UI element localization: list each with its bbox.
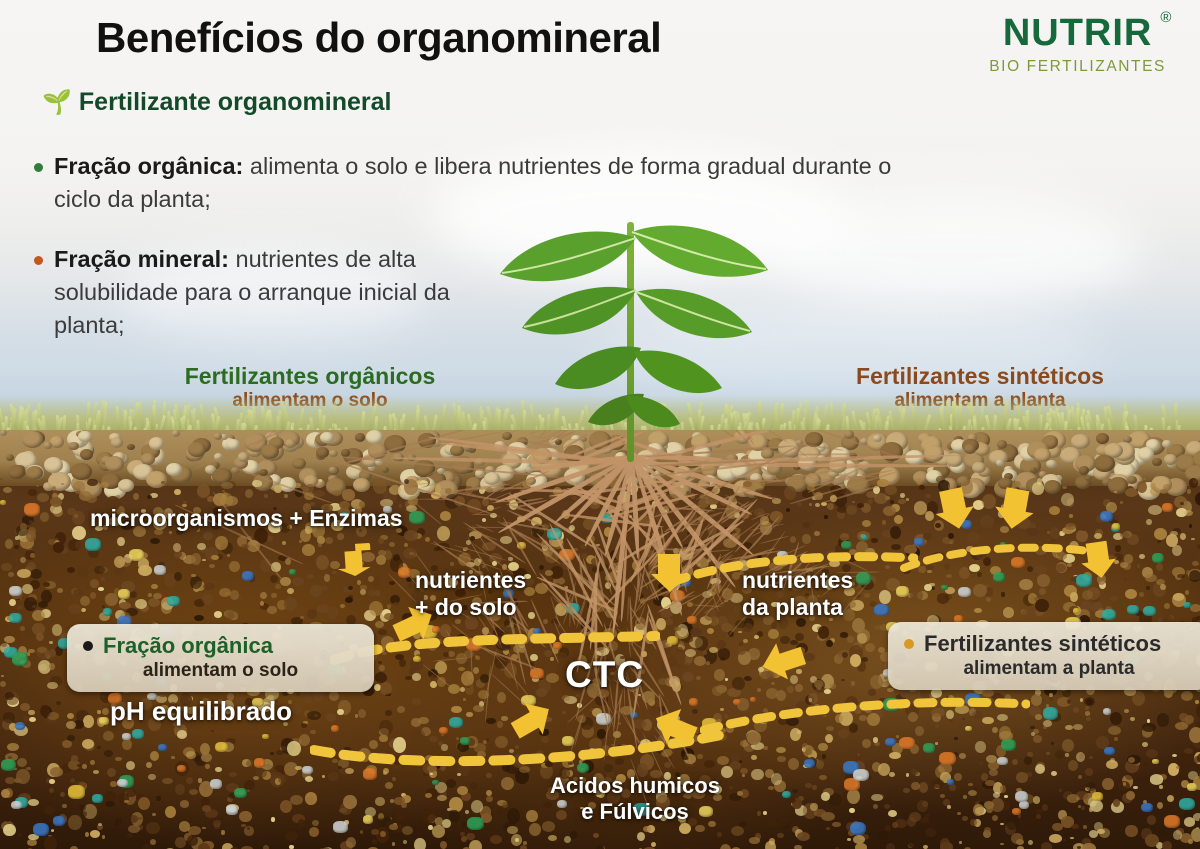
soil-grain — [1, 563, 11, 572]
soil-grain — [299, 734, 310, 746]
soil-grain — [962, 816, 967, 821]
soil-grain — [67, 713, 74, 719]
plant-leaf — [520, 284, 638, 350]
soil-grain — [461, 836, 466, 842]
soil-grain — [1081, 806, 1085, 810]
soil-grain — [871, 794, 883, 801]
mineral-granule — [15, 722, 25, 730]
soil-grain — [979, 761, 983, 766]
soil-grain — [812, 785, 817, 790]
soil-grain — [1124, 577, 1128, 581]
soil-grain — [162, 778, 173, 785]
soil-grain — [37, 493, 49, 503]
soil-grain — [28, 710, 34, 716]
label-nutrients-soil-line1: nutrientes — [415, 567, 565, 594]
soil-grain — [1046, 752, 1051, 755]
soil-grain — [470, 782, 478, 789]
soil-grain — [749, 837, 759, 843]
mineral-granule — [1187, 783, 1197, 791]
list-item: Fração mineral: nutrientes de alta solub… — [34, 243, 934, 343]
soil-grain — [209, 564, 215, 569]
soil-grain — [763, 746, 767, 750]
soil-grain — [889, 752, 901, 759]
soil-pebble — [1044, 480, 1061, 494]
soil-grain — [1181, 691, 1193, 701]
soil-grain — [865, 643, 875, 652]
mineral-granule — [1104, 747, 1114, 755]
soil-pebble — [1071, 434, 1089, 449]
soil-grain — [117, 537, 124, 546]
soil-grain — [110, 781, 117, 787]
soil-grain — [815, 503, 820, 507]
soil-grain — [847, 789, 860, 804]
mineral-granule — [9, 613, 21, 623]
soil-grain — [15, 536, 19, 540]
soil-grain — [256, 768, 267, 778]
soil-grain — [1141, 828, 1152, 839]
soil-grain — [319, 586, 327, 591]
soil-grain — [892, 822, 898, 829]
soil-grain — [919, 782, 928, 793]
soil-grain — [1036, 814, 1041, 818]
soil-grain — [71, 755, 78, 762]
soil-grain — [298, 819, 305, 827]
soil-grain — [637, 832, 645, 841]
soil-grain — [830, 683, 837, 689]
soil-pebble — [1034, 448, 1051, 462]
soil-grain — [44, 806, 55, 814]
mineral-granule — [1015, 791, 1029, 802]
soil-grain — [307, 711, 321, 720]
mineral-granule — [1092, 792, 1103, 801]
soil-grain — [20, 523, 27, 531]
soil-grain — [403, 840, 407, 844]
soil-grain — [709, 647, 718, 654]
soil-grain — [768, 629, 778, 639]
soil-grain — [886, 843, 895, 849]
soil-grain — [229, 561, 240, 573]
soil-grain — [17, 758, 27, 767]
soil-grain — [8, 572, 14, 578]
label-nutrients-soil: nutrientes + do solo — [415, 567, 565, 621]
soil-grain — [244, 780, 255, 790]
soil-grain — [1085, 706, 1089, 710]
soil-grain — [102, 835, 105, 839]
soil-grain — [501, 716, 508, 720]
soil-grain — [1041, 842, 1052, 849]
callout-organic-line1: Fração orgânica — [103, 633, 273, 659]
soil-grain — [1022, 608, 1035, 620]
soil-grain — [1133, 786, 1138, 789]
soil-grain — [924, 584, 932, 591]
flow-arrow-icon — [934, 487, 976, 531]
soil-grain — [1068, 760, 1079, 771]
soil-grain — [917, 800, 928, 812]
soil-grain — [126, 761, 135, 770]
soil-grain — [437, 526, 450, 541]
soil-grain — [1196, 703, 1200, 719]
mineral-granule — [1179, 798, 1195, 811]
soil-grain — [147, 495, 152, 499]
soil-grain — [685, 649, 696, 657]
soil-grain — [1085, 768, 1093, 776]
soil-grain — [142, 844, 151, 849]
soil-grain — [1073, 707, 1079, 713]
soil-grain — [68, 604, 82, 614]
soil-grain — [974, 608, 982, 613]
soil-grain — [771, 682, 774, 685]
soil-grain — [1062, 739, 1074, 752]
soil-grain — [225, 610, 234, 619]
soil-grain — [1180, 533, 1186, 540]
soil-grain — [749, 669, 757, 679]
nutrient-flow-trail — [900, 540, 1100, 576]
soil-pebble — [1162, 440, 1171, 448]
mineral-granule — [85, 538, 102, 551]
soil-grain — [418, 717, 428, 724]
soil-grain — [489, 698, 496, 705]
soil-grain — [229, 772, 237, 777]
soil-grain — [1089, 830, 1098, 838]
soil-grain — [882, 520, 886, 525]
soil-grain — [280, 800, 292, 813]
soil-grain — [1078, 775, 1082, 779]
soil-grain — [214, 611, 223, 618]
callout-synthetic-line1-row: Fertilizantes sintéticos — [904, 631, 1194, 657]
mineral-granule — [363, 815, 374, 824]
soil-grain — [1146, 749, 1158, 758]
soil-grain — [342, 489, 355, 500]
soil-grain — [295, 766, 302, 771]
soil-grain — [954, 773, 963, 781]
soil-grain — [987, 739, 993, 744]
soil-grain — [1012, 759, 1018, 765]
soil-grain — [390, 799, 394, 804]
soil-grain — [156, 796, 160, 801]
mineral-granule — [689, 698, 699, 706]
soil-grain — [788, 798, 796, 803]
soil-grain — [548, 835, 557, 841]
soil-grain — [1144, 583, 1148, 585]
soil-grain — [90, 830, 101, 838]
mineral-granule — [118, 589, 130, 599]
soil-grain — [1, 675, 4, 677]
soil-grain — [1065, 725, 1073, 730]
soil-grain — [1150, 774, 1164, 784]
callout-synthetic-fertilizers: Fertilizantes sintéticos alimentam a pla… — [888, 622, 1200, 690]
soil-grain — [486, 790, 492, 796]
soil-grain — [920, 817, 930, 823]
soil-grain — [299, 540, 302, 542]
callout-organic-line2: alimentam o solo — [83, 660, 358, 682]
soil-pebble — [214, 433, 223, 440]
soil-grain — [1125, 488, 1138, 497]
soil-grain — [103, 731, 114, 741]
soil-grain — [862, 520, 871, 527]
mineral-granule — [12, 652, 28, 665]
soil-grain — [1049, 834, 1062, 842]
soil-grain — [1114, 737, 1118, 741]
soil-grain — [360, 589, 366, 595]
soil-grain — [1188, 839, 1193, 843]
soil-grain — [340, 604, 345, 608]
soil-grain — [1167, 795, 1174, 802]
soil-grain — [720, 844, 731, 849]
soil-grain — [947, 805, 951, 809]
soil-grain — [923, 845, 928, 849]
callout-organic-line1-row: Fração orgânica — [83, 633, 358, 659]
soil-grain — [658, 678, 668, 685]
soil-grain — [22, 584, 33, 595]
soil-grain — [191, 574, 195, 577]
soil-grain — [294, 483, 300, 489]
mineral-granule — [177, 765, 186, 772]
label-microorganisms: microorganismos + Enzimas — [90, 505, 403, 532]
soil-grain — [392, 777, 395, 781]
soil-grain — [414, 838, 426, 849]
soil-grain — [20, 557, 26, 563]
soil-grain — [306, 796, 314, 805]
list-item-text: Fração orgânica: alimenta o solo e liber… — [54, 150, 924, 217]
soil-grain — [274, 485, 281, 492]
soil-grain — [1146, 586, 1150, 590]
soil-grain — [146, 822, 160, 835]
soil-grain — [743, 639, 748, 643]
callout-marker-icon — [904, 639, 914, 649]
soil-grain — [270, 575, 278, 584]
soil-grain — [931, 779, 944, 788]
soil-grain — [871, 538, 878, 543]
bullet-marker-icon — [34, 163, 43, 172]
soil-grain — [465, 810, 469, 814]
soil-grain — [1157, 802, 1163, 809]
soil-grain — [90, 760, 94, 765]
soil-grain — [814, 809, 826, 817]
soil-grain — [75, 541, 83, 549]
soil-grain — [201, 753, 212, 762]
soil-grain — [1159, 785, 1163, 789]
soil-grain — [959, 841, 962, 845]
soil-grain — [562, 711, 566, 714]
bullet-marker-icon — [34, 256, 43, 265]
infographic-poster: Benefícios do organomineral NUTRIR® BIO … — [0, 0, 1200, 849]
mineral-granule — [997, 757, 1008, 765]
soil-grain — [1065, 753, 1069, 756]
subtitle-row: 🌱 Fertilizante organomineral — [42, 88, 391, 117]
soil-grain — [1108, 726, 1121, 735]
soil-grain — [50, 767, 63, 777]
soil-grain — [307, 609, 316, 619]
mineral-granule — [1152, 759, 1159, 764]
soil-grain — [380, 682, 392, 695]
soil-grain — [29, 717, 36, 722]
soil-grain — [1125, 589, 1137, 599]
mineral-granule — [1164, 815, 1180, 828]
soil-grain — [368, 576, 374, 582]
soil-grain — [682, 672, 694, 682]
soil-grain — [165, 806, 176, 819]
nutrient-flow-trail — [700, 690, 1030, 736]
soil-grain — [1118, 494, 1123, 497]
soil-grain — [40, 512, 49, 522]
mineral-granule — [1141, 803, 1153, 812]
soil-grain — [360, 830, 363, 834]
soil-grain — [677, 664, 681, 669]
soil-grain — [177, 730, 188, 739]
soil-grain — [66, 721, 76, 729]
soil-grain — [486, 773, 491, 779]
soil-grain — [1001, 592, 1005, 596]
soil-grain — [213, 820, 221, 826]
soil-grain — [389, 542, 395, 547]
soil-grain — [1094, 533, 1102, 539]
soil-grain — [862, 739, 871, 749]
soil-grain — [318, 543, 322, 547]
soil-grain — [1073, 724, 1083, 731]
soil-grain — [805, 783, 812, 788]
soil-grain — [435, 817, 443, 826]
soil-grain — [894, 515, 903, 524]
soil-grain — [115, 823, 118, 826]
mineral-granule — [9, 586, 22, 596]
mineral-granule — [850, 822, 867, 835]
soil-grain — [157, 487, 169, 496]
soil-grain — [473, 705, 484, 712]
soil-grain — [1067, 794, 1079, 802]
soil-grain — [17, 605, 23, 611]
soil-grain — [925, 494, 930, 498]
soil-grain — [1035, 809, 1043, 814]
soil-grain — [153, 593, 162, 599]
soil-grain — [380, 831, 386, 837]
soil-grain — [849, 808, 854, 813]
soil-grain — [68, 815, 82, 831]
soil-grain — [37, 647, 47, 653]
soil-pebble — [285, 439, 296, 448]
soil-grain — [1080, 698, 1083, 702]
soil-grain — [846, 505, 857, 515]
soil-grain — [851, 681, 856, 686]
soil-grain — [215, 536, 228, 551]
soil-grain — [284, 494, 288, 498]
soil-grain — [948, 533, 953, 539]
callout-marker-icon — [83, 641, 93, 651]
soil-grain — [460, 832, 464, 836]
soil-grain — [412, 673, 421, 681]
soil-grain — [124, 800, 129, 803]
soil-grain — [768, 786, 774, 791]
soil-grain — [296, 692, 300, 696]
soil-grain — [300, 616, 305, 619]
soil-pebble — [68, 442, 78, 450]
soil-grain — [1190, 604, 1200, 612]
soil-grain — [355, 714, 358, 718]
soil-grain — [188, 826, 200, 835]
mineral-granule — [1152, 553, 1165, 563]
soil-grain — [1191, 538, 1195, 541]
soil-grain — [482, 518, 487, 522]
soil-pebble — [924, 445, 944, 462]
flow-arrow-icon — [994, 487, 1036, 531]
soil-grain — [1063, 839, 1066, 841]
label-humic-acids: Acidos humicos e Fúlvicos — [520, 773, 750, 825]
soil-grain — [373, 478, 387, 493]
soil-pebble — [1152, 458, 1162, 466]
soil-grain — [173, 543, 181, 552]
soil-grain — [271, 817, 275, 821]
soil-grain — [307, 574, 314, 578]
soil-grain — [695, 825, 705, 833]
soil-grain — [885, 825, 891, 831]
soil-grain — [486, 796, 493, 802]
soil-grain — [425, 537, 430, 542]
soil-grain — [32, 610, 45, 621]
soil-grain — [1124, 709, 1129, 713]
mineral-granule — [1143, 606, 1156, 616]
soil-grain — [115, 757, 122, 762]
plant-leaf — [634, 286, 754, 354]
soil-grain — [146, 762, 152, 768]
soil-grain — [1027, 752, 1033, 757]
soil-grain — [1003, 607, 1015, 618]
soil-grain — [822, 754, 826, 758]
soil-grain — [1086, 782, 1095, 791]
soil-grain — [874, 742, 880, 746]
soil-grain — [211, 555, 219, 560]
soil-grain — [818, 626, 830, 639]
soil-grain — [412, 698, 421, 705]
soil-grain — [98, 587, 104, 591]
soil-grain — [1157, 713, 1169, 727]
logo-name: NUTRIR — [1003, 12, 1153, 54]
soil-grain — [1166, 534, 1178, 547]
soil-grain — [260, 592, 267, 599]
soil-grain — [36, 485, 39, 487]
mineral-granule — [958, 587, 971, 597]
soil-grain — [1042, 804, 1048, 811]
soil-grain — [203, 532, 213, 541]
soil-grain — [1189, 570, 1200, 583]
soil-grain — [1184, 748, 1193, 754]
soil-grain — [247, 827, 250, 830]
soil-grain — [6, 819, 10, 822]
soil-grain — [282, 541, 286, 545]
soil-grain — [873, 804, 878, 809]
flow-arrow-icon — [652, 706, 698, 748]
soil-grain — [937, 593, 950, 603]
mineral-granule — [158, 744, 167, 751]
soil-grain — [1028, 840, 1034, 845]
soil-grain — [447, 808, 451, 811]
soil-grain — [1069, 514, 1072, 518]
soil-grain — [345, 597, 353, 603]
soil-pebble — [0, 430, 7, 436]
soil-grain — [14, 545, 19, 550]
soil-grain — [1035, 764, 1045, 774]
soil-grain — [247, 789, 251, 791]
soil-grain — [520, 845, 527, 849]
soil-grain — [814, 531, 820, 536]
soil-grain — [1039, 588, 1046, 595]
soil-grain — [446, 779, 456, 788]
soil-grain — [85, 832, 89, 837]
soil-grain — [85, 586, 89, 589]
soil-grain — [278, 774, 287, 784]
soil-grain — [1195, 492, 1200, 506]
mineral-granule — [1012, 808, 1021, 815]
soil-grain — [215, 767, 223, 772]
soil-grain — [93, 770, 99, 774]
